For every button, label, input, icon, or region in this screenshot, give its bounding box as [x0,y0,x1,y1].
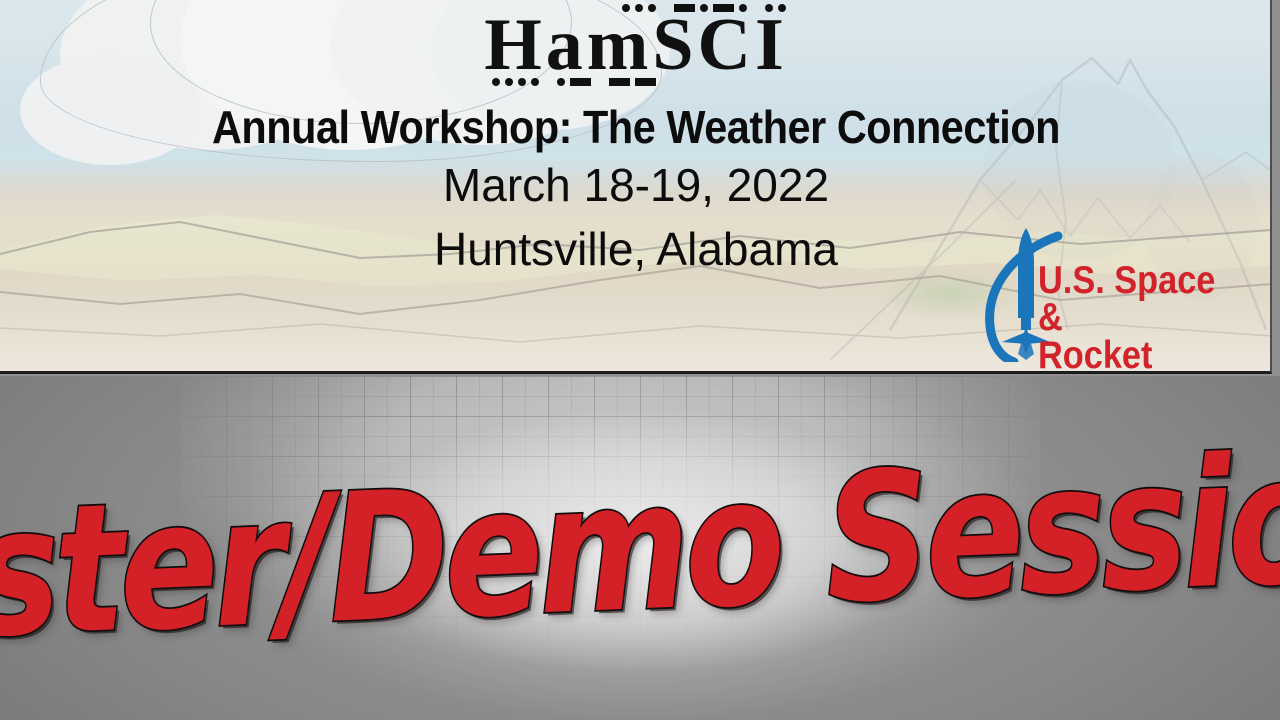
sponsor-line-2: Rocket Center [1038,334,1152,374]
morse-above-sci [622,4,786,12]
slide-heading-area: Poster/Demo Sessions [0,418,1280,678]
us-space-and-rocket-center-logo: U.S. Space & Rocket Center® [980,222,1270,370]
morse-letter-a [557,78,591,86]
sponsor-line-1: U.S. Space & [1038,262,1242,337]
morse-below-ham [492,78,669,86]
banner-title: Annual Workshop: The Weather Connection [64,100,1209,154]
banner-date: March 18-19, 2022 [0,158,1272,212]
morse-letter-i [765,4,786,12]
morse-letter-h [492,78,539,86]
sponsor-name: U.S. Space & Rocket Center® [1038,262,1270,374]
slide-screen: HamSCI [0,0,1280,720]
hamsci-logo: HamSCI [0,8,1272,82]
hamsci-wordmark-text: HamSCI [484,4,788,86]
morse-letter-c [674,4,747,12]
event-banner: HamSCI [0,0,1272,374]
morse-letter-s [622,4,656,12]
morse-letter-m [609,78,656,86]
slide-heading: Poster/Demo Sessions [0,411,1280,685]
